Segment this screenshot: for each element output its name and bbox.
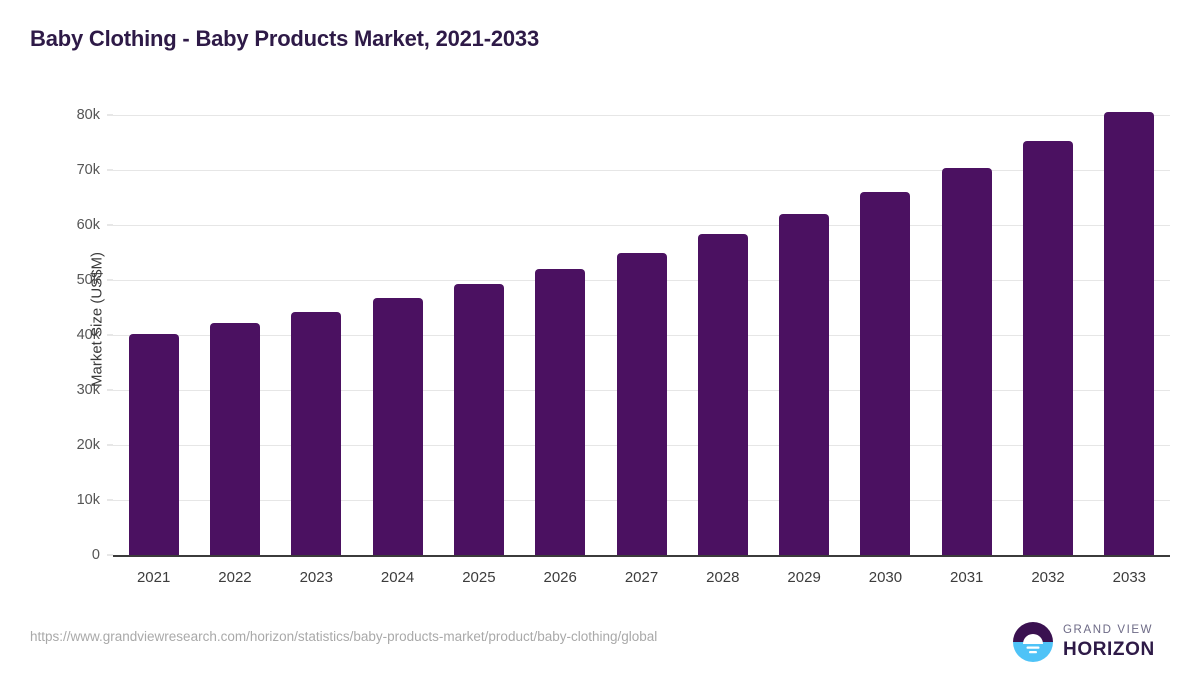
- logo-line-1: GRAND VIEW: [1063, 625, 1155, 637]
- bar[interactable]: [698, 234, 748, 555]
- chart-page: Baby Clothing - Baby Products Market, 20…: [0, 0, 1200, 675]
- x-tick-label: 2021: [109, 569, 199, 586]
- bar[interactable]: [860, 192, 910, 555]
- bar[interactable]: [373, 298, 423, 555]
- bar[interactable]: [1023, 141, 1073, 555]
- source-url[interactable]: https://www.grandviewresearch.com/horizo…: [30, 629, 657, 644]
- logo-wordmark: GRAND VIEW HORIZON: [1063, 625, 1155, 659]
- bar[interactable]: [942, 168, 992, 555]
- x-axis-line: [113, 555, 1170, 557]
- bar[interactable]: [535, 269, 585, 555]
- x-tick-label: 2029: [759, 569, 849, 586]
- brand-logo[interactable]: GRAND VIEW HORIZON: [1012, 620, 1172, 664]
- bar[interactable]: [210, 323, 260, 555]
- x-tick-label: 2033: [1084, 569, 1174, 586]
- x-tick-label: 2031: [922, 569, 1012, 586]
- bar[interactable]: [1104, 112, 1154, 555]
- x-tick-label: 2026: [515, 569, 605, 586]
- bar[interactable]: [454, 284, 504, 555]
- plot-area: 010k20k30k40k50k60k70k80k Market Size (U…: [113, 115, 1170, 555]
- x-tick-label: 2022: [190, 569, 280, 586]
- horizon-sunrise-icon: [1012, 621, 1054, 663]
- x-tick-label: 2032: [1003, 569, 1093, 586]
- x-tick-label: 2024: [353, 569, 443, 586]
- bar[interactable]: [617, 253, 667, 556]
- x-tick-label: 2025: [434, 569, 524, 586]
- y-axis-title: Market Size (US$M): [89, 100, 106, 540]
- bar-series: [113, 115, 1170, 555]
- bar[interactable]: [291, 312, 341, 555]
- x-tick-label: 2028: [678, 569, 768, 586]
- bar[interactable]: [129, 334, 179, 555]
- x-tick-label: 2030: [840, 569, 930, 586]
- page-title: Baby Clothing - Baby Products Market, 20…: [30, 26, 539, 52]
- bar[interactable]: [779, 214, 829, 555]
- logo-line-2: HORIZON: [1063, 640, 1155, 659]
- x-tick-label: 2023: [271, 569, 361, 586]
- x-tick-label: 2027: [597, 569, 687, 586]
- y-tick-label: 0: [40, 547, 100, 563]
